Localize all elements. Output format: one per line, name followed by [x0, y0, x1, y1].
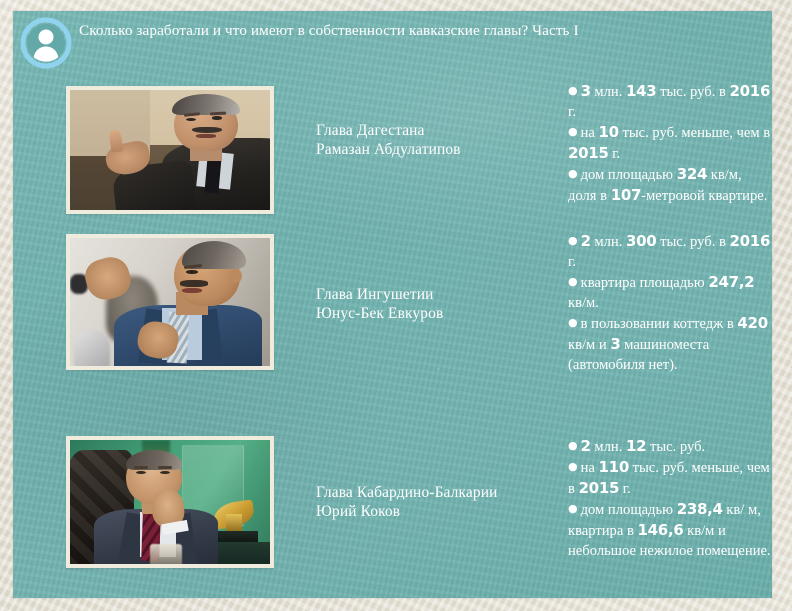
- fact-text: тыс. руб.: [646, 439, 705, 455]
- fact-item: ●дом площадью 324 кв/м, доля в 107-метро…: [568, 164, 773, 206]
- fact-number: 238,4: [677, 500, 723, 518]
- portrait-photo-abdulatipov: [70, 90, 270, 210]
- person-name: Глава Кабардино-Балкарии Юрий Коков: [316, 483, 554, 521]
- fact-text: г.: [609, 146, 621, 162]
- fact-text: млн.: [591, 84, 626, 100]
- bullet-icon: ●: [568, 502, 578, 515]
- bullet-icon: ●: [568, 125, 578, 138]
- bullet-icon: ●: [568, 84, 578, 97]
- person-title-line: Глава Кабардино-Балкарии: [316, 483, 554, 502]
- fact-text: г.: [568, 104, 576, 120]
- fact-item: ●на 110 тыс. руб. меньше, чем в 2015 г.: [568, 457, 773, 499]
- person-name: Глава Ингушетии Юнус-Бек Евкуров: [316, 285, 554, 323]
- person-avatar-icon: [20, 17, 72, 69]
- bullet-icon: ●: [568, 316, 578, 329]
- fact-number: 2016: [730, 232, 771, 250]
- fact-text: г.: [619, 481, 631, 497]
- fact-text: тыс. руб. меньше, чем в: [619, 125, 770, 141]
- fact-number: 10: [599, 123, 619, 141]
- fact-number: 300: [626, 232, 656, 250]
- entry-row: Глава Ингушетии Юнус-Бек Евкуров ●2 млн.…: [13, 217, 772, 412]
- fact-text: тыс. руб. в: [656, 234, 729, 250]
- fact-number: 3: [581, 82, 591, 100]
- fact-item: ●на 10 тыс. руб. меньше, чем в 2015 г.: [568, 122, 773, 164]
- photo-frame: [66, 86, 274, 214]
- portrait-photo-kokov: [70, 440, 270, 564]
- fact-number: 12: [626, 437, 646, 455]
- fact-text: в пользовании коттедж в: [581, 316, 738, 332]
- entry-row: Глава Дагестана Рамазан Абдулатипов ●3 м…: [13, 64, 772, 214]
- fact-number: 110: [599, 458, 629, 476]
- fact-text: дом площадью: [581, 167, 677, 183]
- page-title: Сколько заработали и что имеют в собстве…: [79, 21, 739, 41]
- entry-row: Глава Кабардино-Балкарии Юрий Коков ●2 м…: [13, 415, 772, 590]
- photo-frame: [66, 234, 274, 370]
- facts-list: ●2 млн. 12 тыс. руб.●на 110 тыс. руб. ме…: [568, 436, 773, 561]
- fact-text: дом площадью: [581, 502, 677, 518]
- page-background: Сколько заработали и что имеют в собстве…: [0, 0, 792, 611]
- bullet-icon: ●: [568, 167, 578, 180]
- facts-list: ●3 млн. 143 тыс. руб. в 2016 г.●на 10 ты…: [568, 81, 773, 206]
- fact-item: ●в пользовании коттедж в 420 кв/м и 3 ма…: [568, 313, 773, 375]
- fact-number: 146,6: [638, 521, 684, 539]
- fact-item: ●2 млн. 12 тыс. руб.: [568, 436, 773, 457]
- fact-number: 2: [581, 437, 591, 455]
- fact-text: -метровой квартире.: [641, 188, 767, 204]
- fact-number: 324: [677, 165, 707, 183]
- person-title-line: Глава Ингушетии: [316, 285, 554, 304]
- fact-text: млн.: [591, 234, 626, 250]
- bullet-icon: ●: [568, 439, 578, 452]
- portrait-photo-yevkurov: [70, 238, 270, 366]
- fact-number: 247,2: [708, 273, 754, 291]
- fact-number: 2015: [579, 479, 620, 497]
- fact-number: 107: [611, 186, 641, 204]
- fact-number: 143: [626, 82, 656, 100]
- fact-text: на: [581, 460, 599, 476]
- fact-text: млн.: [591, 439, 626, 455]
- person-fullname-line: Юрий Коков: [316, 502, 554, 521]
- fact-item: ●квартира площадью 247,2 кв/м.: [568, 272, 773, 313]
- fact-number: 2: [581, 232, 591, 250]
- fact-text: квартира площадью: [581, 275, 709, 291]
- fact-text: на: [581, 125, 599, 141]
- person-fullname-line: Юнус-Бек Евкуров: [316, 304, 554, 323]
- fact-number: 3: [610, 335, 620, 353]
- fact-text: тыс. руб. в: [656, 84, 729, 100]
- fact-number: 420: [737, 314, 767, 332]
- bullet-icon: ●: [568, 460, 578, 473]
- fact-text: кв/м и: [568, 337, 610, 353]
- fact-item: ●дом площадью 238,4 кв/ м, квартира в 14…: [568, 499, 773, 561]
- person-title-line: Глава Дагестана: [316, 121, 554, 140]
- bullet-icon: ●: [568, 275, 578, 288]
- person-name: Глава Дагестана Рамазан Абдулатипов: [316, 121, 554, 159]
- fact-item: ●2 млн. 300 тыс. руб. в 2016 г.: [568, 231, 773, 272]
- photo-frame: [66, 436, 274, 568]
- person-fullname-line: Рамазан Абдулатипов: [316, 140, 554, 159]
- slide-panel: Сколько заработали и что имеют в собстве…: [13, 11, 772, 598]
- fact-item: ●3 млн. 143 тыс. руб. в 2016 г.: [568, 81, 773, 122]
- fact-number: 2015: [568, 144, 609, 162]
- fact-number: 2016: [730, 82, 771, 100]
- fact-text: г.: [568, 254, 576, 270]
- facts-list: ●2 млн. 300 тыс. руб. в 2016 г.●квартира…: [568, 231, 773, 375]
- fact-text: кв/м.: [568, 295, 599, 311]
- bullet-icon: ●: [568, 234, 578, 247]
